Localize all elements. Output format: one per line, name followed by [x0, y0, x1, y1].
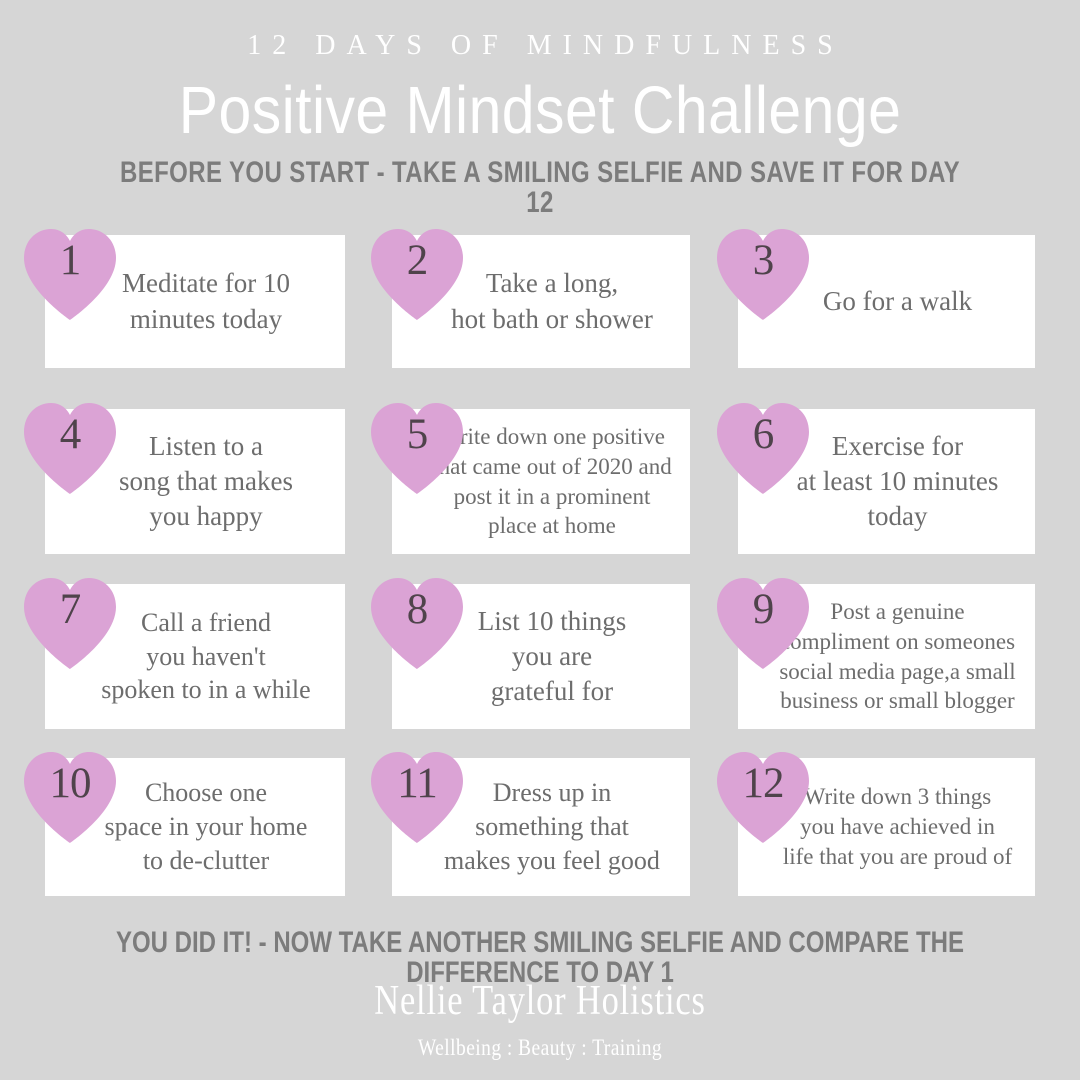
day-number: 5	[367, 413, 467, 456]
day-card-4[interactable]: Listen to asong that makesyou happy4	[45, 409, 345, 554]
day-card-12[interactable]: Write down 3 thingsyou have achieved inl…	[738, 758, 1035, 896]
day-card-1[interactable]: Meditate for 10minutes today1	[45, 235, 345, 368]
day-number: 3	[713, 239, 813, 282]
heart-icon: 6	[713, 399, 813, 499]
day-card-7[interactable]: Call a friendyou haven'tspoken to in a w…	[45, 584, 345, 729]
day-number: 10	[20, 762, 120, 805]
day-number: 7	[20, 588, 120, 631]
day-number: 11	[367, 762, 467, 805]
heart-icon: 8	[367, 574, 467, 674]
brand-name: Nellie Taylor Holistics	[97, 980, 983, 1022]
day-card-11[interactable]: Dress up insomething thatmakes you feel …	[392, 758, 690, 896]
day-number: 2	[367, 239, 467, 282]
day-card-10[interactable]: Choose onespace in your hometo de-clutte…	[45, 758, 345, 896]
challenge-grid: Meditate for 10minutes today1Take a long…	[0, 0, 1080, 1080]
heart-icon: 1	[20, 225, 120, 325]
day-card-2[interactable]: Take a long,hot bath or shower2	[392, 235, 690, 368]
heart-icon: 3	[713, 225, 813, 325]
day-number: 9	[713, 588, 813, 631]
heart-icon: 5	[367, 399, 467, 499]
day-number: 4	[20, 413, 120, 456]
day-card-6[interactable]: Exercise forat least 10 minutestoday6	[738, 409, 1035, 554]
day-card-5[interactable]: Write down one positivethat came out of …	[392, 409, 690, 554]
day-card-3[interactable]: Go for a walk3	[738, 235, 1035, 368]
day-card-8[interactable]: List 10 thingsyou aregrateful for8	[392, 584, 690, 729]
day-number: 12	[713, 762, 813, 805]
poster-canvas: 12 DAYS OF MINDFULNESS Positive Mindset …	[0, 0, 1080, 1080]
heart-icon: 4	[20, 399, 120, 499]
heart-icon: 12	[713, 748, 813, 848]
heart-icon: 11	[367, 748, 467, 848]
day-card-9[interactable]: Post a genuinecompliment on someonessoci…	[738, 584, 1035, 729]
day-number: 8	[367, 588, 467, 631]
heart-icon: 7	[20, 574, 120, 674]
brand-tagline: Wellbeing : Beauty : Training	[81, 1036, 999, 1059]
heart-icon: 9	[713, 574, 813, 674]
day-number: 6	[713, 413, 813, 456]
heart-icon: 2	[367, 225, 467, 325]
heart-icon: 10	[20, 748, 120, 848]
day-number: 1	[20, 239, 120, 282]
